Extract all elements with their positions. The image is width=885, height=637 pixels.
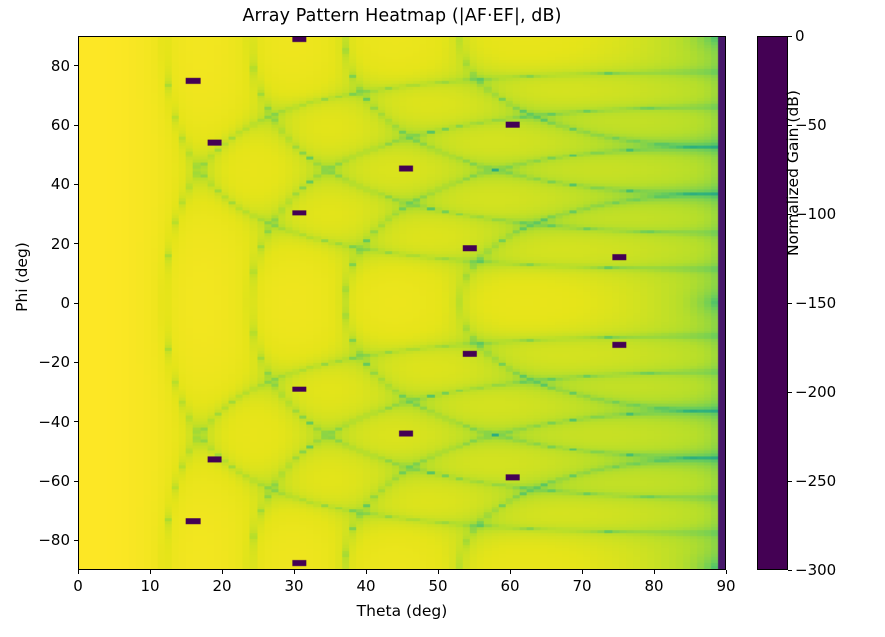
- x-tick-label: 10: [140, 577, 159, 595]
- x-tick-mark: [654, 570, 655, 574]
- x-tick-mark: [150, 570, 151, 574]
- colorbar-tick-mark: [788, 36, 792, 37]
- x-tick-mark: [438, 570, 439, 574]
- y-tick-label: −40: [20, 413, 70, 431]
- y-tick-mark: [74, 481, 78, 482]
- x-tick-mark: [726, 570, 727, 574]
- x-tick-label: 70: [572, 577, 591, 595]
- x-tick-mark: [582, 570, 583, 574]
- y-axis-label: Phi (deg): [13, 197, 31, 357]
- x-tick-mark: [510, 570, 511, 574]
- x-tick-label: 50: [428, 577, 447, 595]
- x-tick-label: 80: [644, 577, 663, 595]
- heatmap-image: [79, 37, 725, 569]
- colorbar-tick-mark: [788, 481, 792, 482]
- figure-canvas: Array Pattern Heatmap (|AF·EF|, dB) 0102…: [0, 0, 885, 637]
- x-tick-mark: [294, 570, 295, 574]
- x-tick-label: 90: [716, 577, 735, 595]
- colorbar-tick-label: −200: [795, 383, 836, 401]
- colorbar-label: Normalized Gain (dB): [784, 43, 802, 303]
- colorbar-tick-label: −300: [795, 561, 836, 579]
- colorbar-tick-mark: [788, 392, 792, 393]
- y-tick-mark: [74, 540, 78, 541]
- x-tick-mark: [366, 570, 367, 574]
- y-tick-mark: [74, 421, 78, 422]
- y-tick-mark: [74, 125, 78, 126]
- y-tick-mark: [74, 65, 78, 66]
- x-tick-mark: [78, 570, 79, 574]
- x-tick-mark: [222, 570, 223, 574]
- heatmap-plot-area[interactable]: [78, 36, 726, 570]
- colorbar-gradient: [758, 37, 787, 569]
- x-tick-label: 40: [356, 577, 375, 595]
- y-tick-mark: [74, 243, 78, 244]
- y-tick-mark: [74, 362, 78, 363]
- y-tick-label: −60: [20, 472, 70, 490]
- x-tick-label: 20: [212, 577, 231, 595]
- x-tick-label: 30: [284, 577, 303, 595]
- y-tick-mark: [74, 184, 78, 185]
- y-tick-label: 40: [20, 175, 70, 193]
- chart-title: Array Pattern Heatmap (|AF·EF|, dB): [78, 6, 726, 26]
- colorbar-tick-mark: [788, 570, 792, 571]
- x-tick-label: 60: [500, 577, 519, 595]
- y-tick-label: −80: [20, 531, 70, 549]
- colorbar-tick-label: −250: [795, 472, 836, 490]
- x-tick-label: 0: [73, 577, 83, 595]
- x-axis-label: Theta (deg): [78, 602, 726, 620]
- y-tick-label: 60: [20, 116, 70, 134]
- y-tick-label: 80: [20, 57, 70, 75]
- y-tick-mark: [74, 303, 78, 304]
